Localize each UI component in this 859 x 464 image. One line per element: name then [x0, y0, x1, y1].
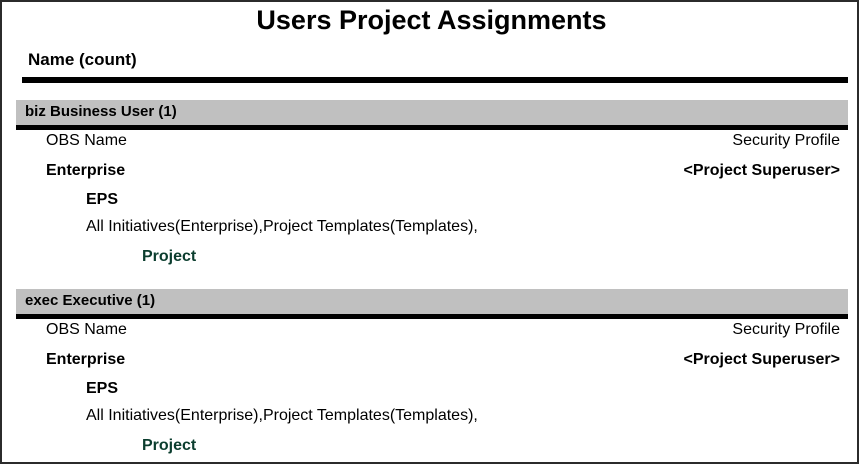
group-header-rule [16, 314, 848, 319]
security-profile-column-header: Security Profile [732, 132, 840, 150]
project-label: Project [142, 437, 196, 455]
name-count-column-header: Name (count) [28, 50, 137, 70]
report-page: Users Project Assignments Name (count) b… [0, 0, 859, 464]
obs-name-column-header: OBS Name [46, 321, 127, 339]
security-profile-value: <Project Superuser> [683, 162, 840, 180]
eps-value-row: All Initiatives(Enterprise),Project Temp… [2, 218, 859, 240]
group-header-band[interactable]: exec Executive (1) [16, 289, 848, 314]
header-divider-rule [22, 77, 848, 83]
obs-name-column-header: OBS Name [46, 132, 127, 150]
security-profile-column-header: Security Profile [732, 321, 840, 339]
eps-label: EPS [86, 191, 118, 209]
group-header-rule [16, 125, 848, 130]
eps-value: All Initiatives(Enterprise),Project Temp… [86, 407, 478, 425]
eps-value: All Initiatives(Enterprise),Project Temp… [86, 218, 478, 236]
obs-name-value: Enterprise [46, 351, 125, 369]
project-label-row: Project [2, 437, 859, 459]
eps-value-row: All Initiatives(Enterprise),Project Temp… [2, 407, 859, 429]
column-header-row: OBS Name Security Profile [2, 132, 859, 154]
eps-label-row: EPS [2, 191, 859, 213]
obs-assignment-row: Enterprise <Project Superuser> [2, 162, 859, 184]
group-header-label: biz Business User (1) [25, 103, 177, 120]
eps-label-row: EPS [2, 380, 859, 402]
obs-assignment-row: Enterprise <Project Superuser> [2, 351, 859, 373]
project-label: Project [142, 248, 196, 266]
group-header-label: exec Executive (1) [25, 292, 155, 309]
obs-name-value: Enterprise [46, 162, 125, 180]
column-header-row: OBS Name Security Profile [2, 321, 859, 343]
project-label-row: Project [2, 248, 859, 270]
security-profile-value: <Project Superuser> [683, 351, 840, 369]
eps-label: EPS [86, 380, 118, 398]
group-header-band[interactable]: biz Business User (1) [16, 100, 848, 125]
page-title: Users Project Assignments [2, 5, 859, 36]
